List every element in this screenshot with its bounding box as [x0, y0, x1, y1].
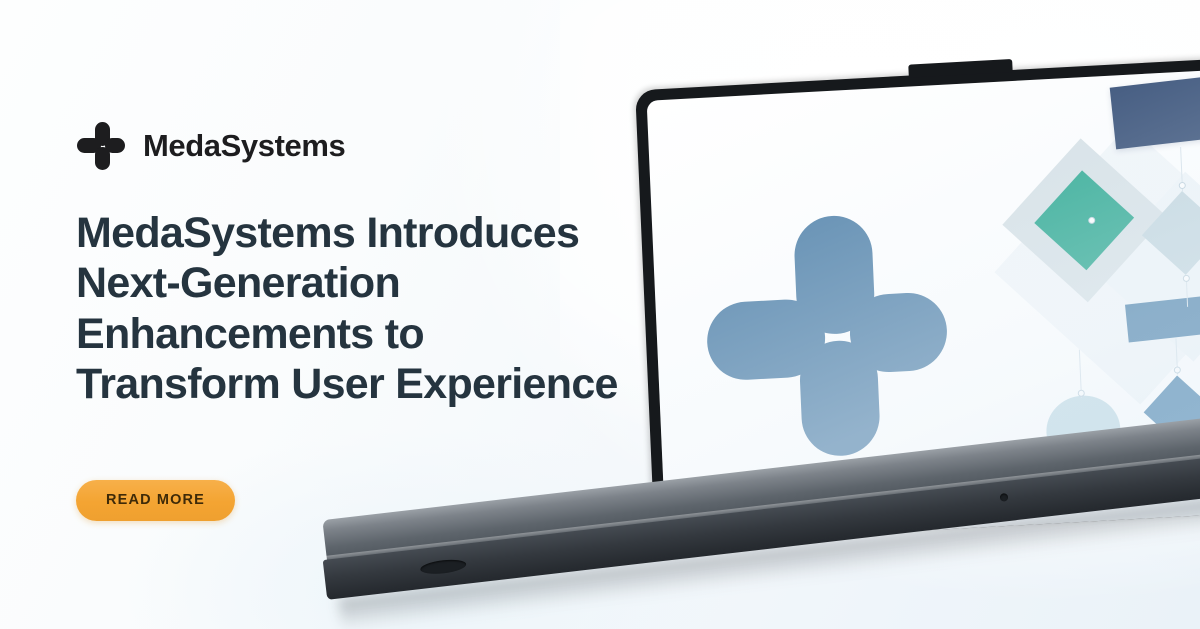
brand-lockup: MedaSystems — [76, 118, 636, 174]
navy-rectangle — [1110, 73, 1200, 150]
light-blue-diamond — [1136, 184, 1200, 281]
banner-content: MedaSystems MedaSystems Introduces Next-… — [76, 118, 636, 521]
brand-name: MedaSystems — [143, 128, 345, 164]
page-title: MedaSystems Introduces Next-Generation E… — [76, 208, 621, 409]
medasystems-cross-logo-icon — [76, 121, 126, 171]
laptop-port-icon — [420, 558, 467, 576]
laptop-indicator-icon — [1000, 493, 1009, 502]
press-release-banner: MedaSystems MedaSystems Introduces Next-… — [0, 0, 1200, 629]
read-more-button[interactable]: READ MORE — [76, 480, 235, 521]
webcam-notch-icon — [908, 59, 1012, 78]
medasystems-cross-logo-blue-icon — [697, 205, 958, 468]
